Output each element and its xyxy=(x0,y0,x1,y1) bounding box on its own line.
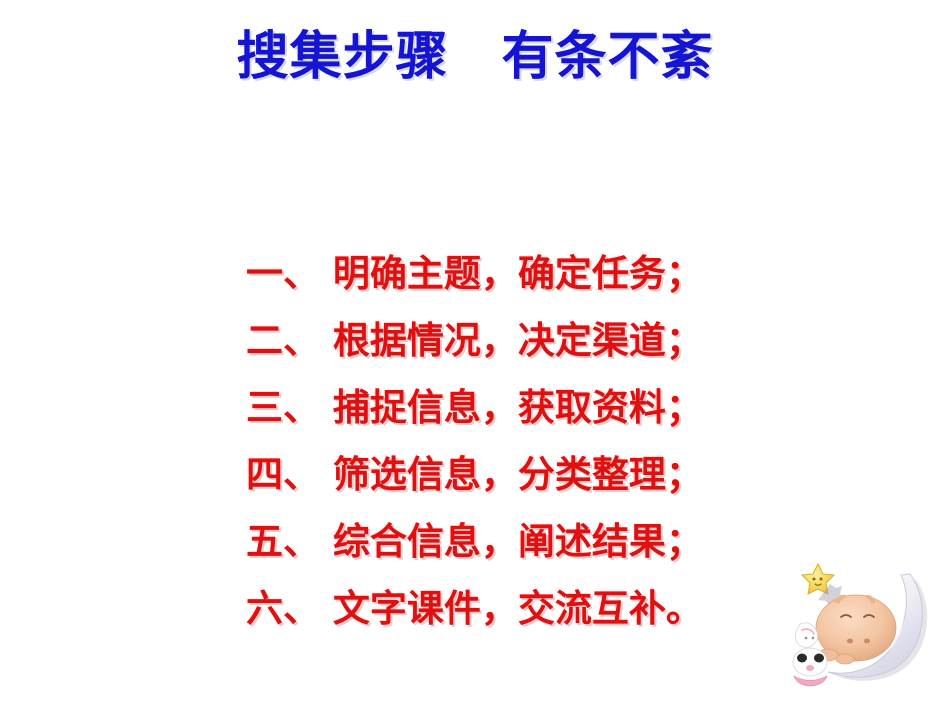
list-item: 一、 明确主题，确定任务； xyxy=(246,240,706,307)
list-item: 四、 筛选信息，分类整理； xyxy=(246,441,706,508)
list-item: 五、 综合信息，阐述结果； xyxy=(246,508,706,575)
page-title: 搜集步骤 有条不紊 xyxy=(0,24,950,90)
list-item: 六、 文字课件，交流互补。 xyxy=(246,575,706,642)
steps-list: 一、 明确主题，确定任务； 二、 根据情况，决定渠道； 三、 捕捉信息，获取资料… xyxy=(246,240,706,642)
baby-on-crescent-moon-clipart xyxy=(788,558,938,703)
list-item: 三、 捕捉信息，获取资料； xyxy=(246,374,706,441)
list-item: 二、 根据情况，决定渠道； xyxy=(246,307,706,374)
presentation-slide: 搜集步骤 有条不紊 一、 明确主题，确定任务； 二、 根据情况，决定渠道； 三、… xyxy=(0,0,950,713)
